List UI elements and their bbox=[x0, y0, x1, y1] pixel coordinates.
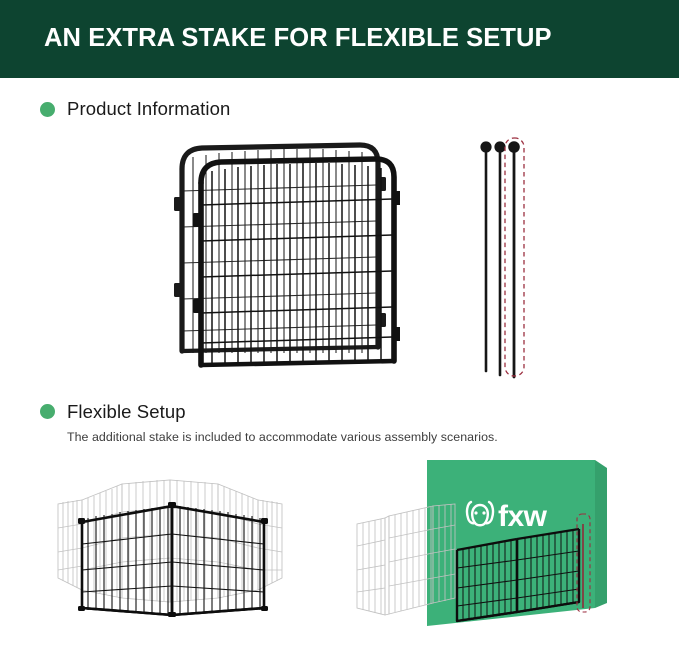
section-header-flexible-setup: Flexible Setup bbox=[0, 403, 679, 422]
green-dot-icon bbox=[40, 404, 55, 419]
gray-panels bbox=[58, 480, 282, 602]
product-information-figures bbox=[0, 133, 679, 383]
stake-2 bbox=[494, 141, 505, 375]
page-header-banner: AN EXTRA STAKE FOR FLEXIBLE SETUP bbox=[0, 0, 679, 78]
wire-panel-illustration bbox=[160, 135, 400, 375]
octagon-pen-illustration bbox=[36, 458, 316, 626]
section-subtitle-flexible-setup: The additional stake is included to acco… bbox=[0, 430, 679, 444]
section-flexible-setup: Flexible Setup The additional stake is i… bbox=[0, 403, 679, 634]
wall-pen-illustration: fxw bbox=[355, 458, 655, 626]
three-ground-stakes bbox=[470, 135, 550, 380]
section-title-flexible-setup: Flexible Setup bbox=[67, 403, 186, 422]
green-dot-icon bbox=[40, 102, 55, 117]
page-title: AN EXTRA STAKE FOR FLEXIBLE SETUP bbox=[44, 26, 552, 52]
highlighted-front-panels bbox=[78, 502, 268, 617]
section-header-product-information: Product Information bbox=[0, 100, 679, 119]
octagonal-playpen-layout bbox=[36, 458, 316, 626]
brand-wordmark: fxw bbox=[498, 500, 548, 533]
back-panel bbox=[182, 149, 376, 353]
section-product-information: Product Information bbox=[0, 100, 679, 383]
playpen-against-wall-layout: fxw bbox=[355, 458, 655, 626]
flexible-setup-figures: fxw bbox=[0, 458, 679, 633]
two-overlapping-wire-panels bbox=[160, 135, 400, 375]
stakes-illustration bbox=[470, 135, 550, 380]
stake-3-highlighted bbox=[508, 141, 520, 377]
section-title-product-information: Product Information bbox=[67, 100, 230, 119]
stake-1 bbox=[480, 141, 491, 371]
